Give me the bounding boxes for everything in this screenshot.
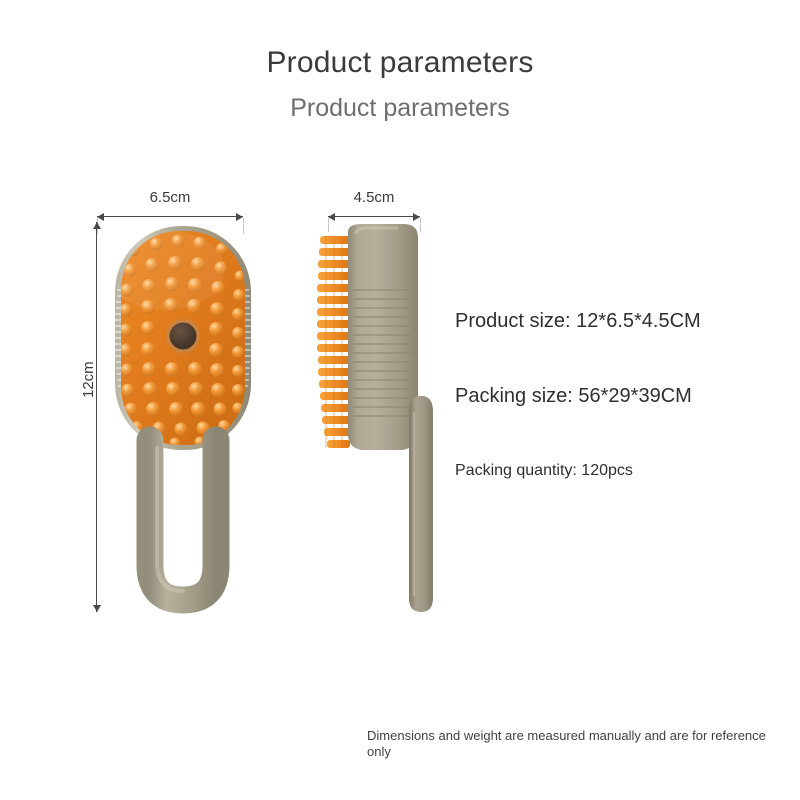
spec-packing-quantity: Packing quantity: 120pcs bbox=[455, 462, 633, 480]
brush-front-view bbox=[105, 226, 251, 600]
spec-packing-size: Packing size: 56*29*39CM bbox=[455, 385, 692, 408]
spec-product-size: Product size: 12*6.5*4.5CM bbox=[455, 310, 701, 333]
brush-side-view bbox=[317, 224, 433, 612]
brush-bristles bbox=[317, 236, 350, 448]
measurement-disclaimer: Dimensions and weight are measured manua… bbox=[367, 728, 787, 761]
brush-handle-side bbox=[409, 396, 433, 612]
product-parameters-page: Product parameters Product parameters 6.… bbox=[0, 0, 800, 800]
steam-hole bbox=[170, 323, 197, 350]
